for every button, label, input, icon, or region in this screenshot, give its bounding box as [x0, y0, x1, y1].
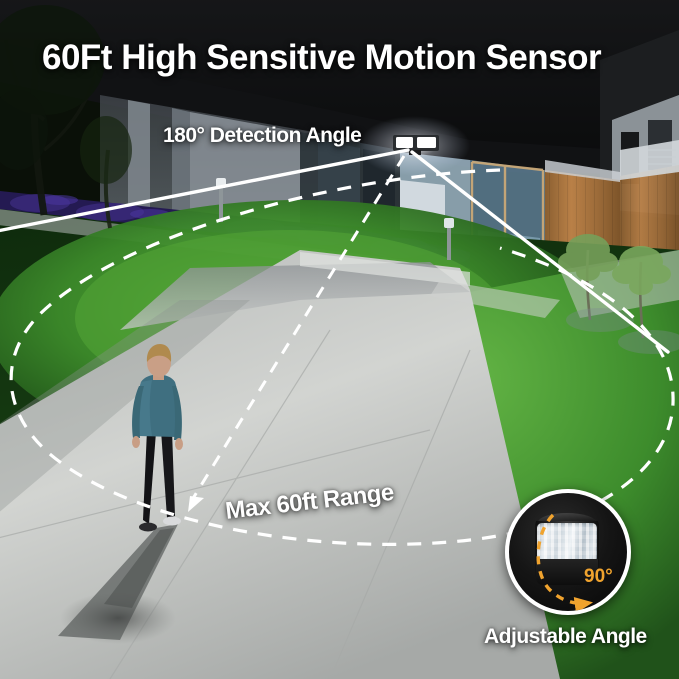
angle-degrees-label: 90° [584, 566, 613, 588]
detection-angle-label: 180° Detection Angle [163, 124, 361, 148]
beam-left [0, 150, 408, 232]
arrowhead [188, 496, 204, 512]
rotation-arc [538, 515, 589, 603]
infographic-scene: 60Ft High Sensitive Motion Sensor 180° D… [0, 0, 679, 679]
adjustable-angle-inset: 90° [505, 489, 631, 615]
page-title: 60Ft High Sensitive Motion Sensor [42, 38, 601, 78]
range-pointer [188, 156, 404, 512]
beam-right [412, 152, 668, 352]
rotation-arc-icon [509, 493, 631, 615]
beam-lines [0, 150, 668, 352]
inset-caption: Adjustable Angle [484, 625, 647, 649]
